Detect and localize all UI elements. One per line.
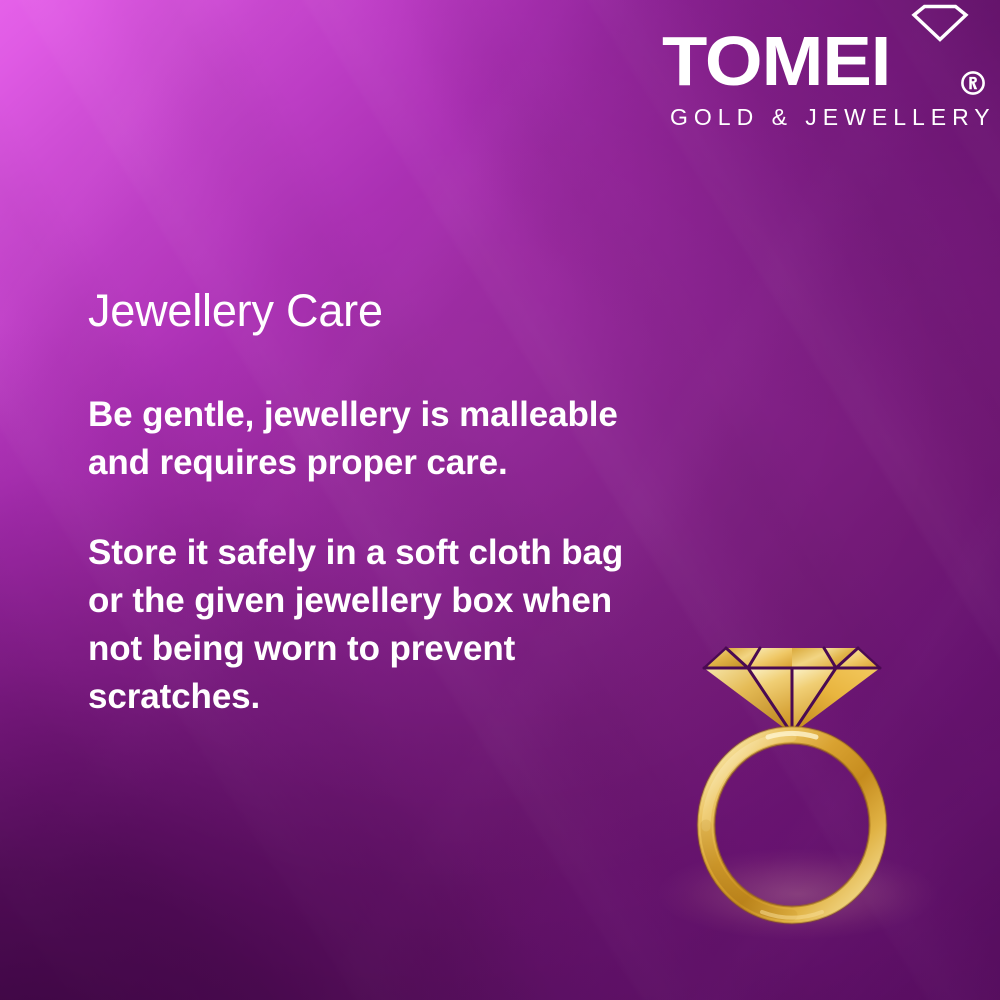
- diamond-outline-icon: [911, 4, 969, 42]
- diamond-ring-illustration: [690, 630, 895, 930]
- poster-canvas: TOMEI GOLD & JEWELLERY Jewellery Care Be…: [0, 0, 1000, 1000]
- ring-band-icon: [698, 727, 887, 924]
- body-paragraph-1: Be gentle, jewellery is malleable and re…: [88, 391, 633, 487]
- logo-tagline: GOLD & JEWELLERY: [670, 106, 996, 129]
- gem-icon: [704, 648, 880, 734]
- registered-trademark-icon: [960, 70, 986, 96]
- logo-wordmark: TOMEI: [662, 26, 890, 96]
- page-title: Jewellery Care: [88, 288, 668, 333]
- copy-block: Jewellery Care Be gentle, jewellery is m…: [88, 288, 668, 721]
- body-paragraph-2: Store it safely in a soft cloth bag or t…: [88, 529, 633, 721]
- brand-logo: TOMEI GOLD & JEWELLERY: [640, 0, 1000, 150]
